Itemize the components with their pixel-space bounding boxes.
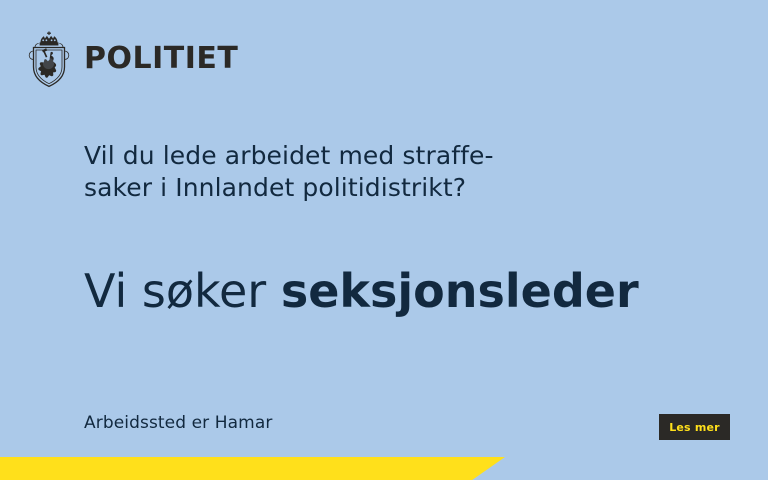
yellow-accent-stripe (0, 457, 505, 480)
norwegian-coat-of-arms-icon (26, 30, 72, 88)
job-ad-banner: POLITIET Vil du lede arbeidet med straff… (0, 0, 768, 480)
headline-line-2: saker i Innlandet politidistrikt? (84, 172, 644, 204)
headline-line-1: Vil du lede arbeidet med straffe- (84, 140, 644, 172)
statement-lead: Vi søker (84, 264, 281, 318)
read-more-button[interactable]: Les mer (659, 414, 730, 440)
politiet-wordmark: POLITIET (84, 44, 238, 74)
job-statement: Vi søker seksjonsleder (84, 266, 639, 317)
headline-question: Vil du lede arbeidet med straffe- saker … (84, 140, 644, 204)
workplace-location: Arbeidssted er Hamar (84, 413, 272, 433)
politiet-logo[interactable]: POLITIET (26, 30, 238, 88)
job-title: seksjonsleder (281, 264, 639, 318)
